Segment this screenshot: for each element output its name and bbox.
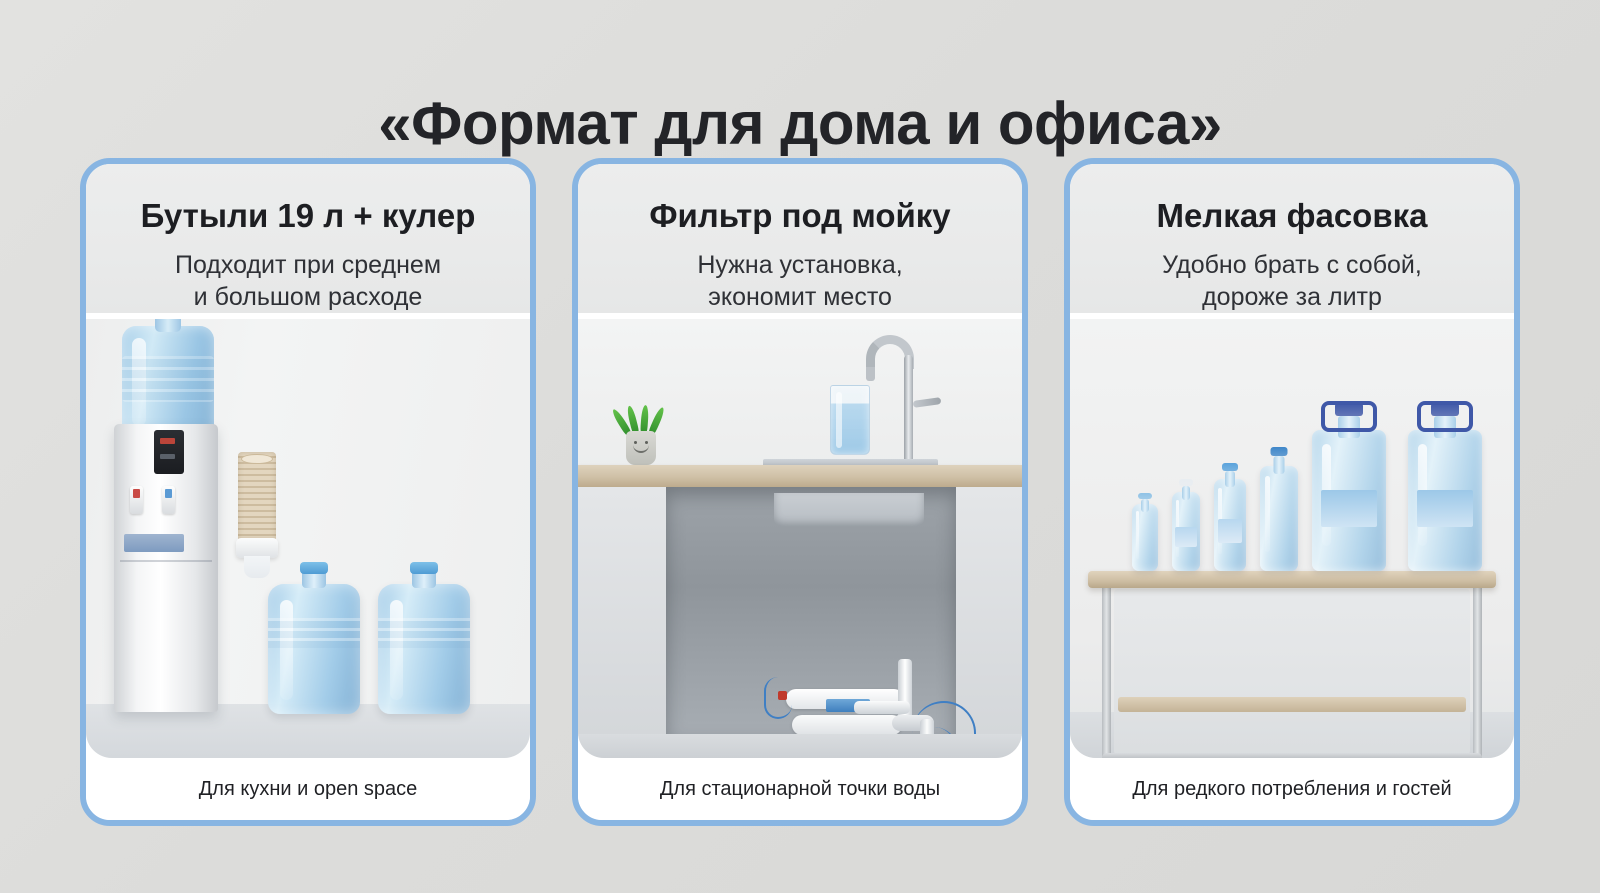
bottle-ribs <box>378 618 470 648</box>
card-2-subtitle-line-1: Нужна установка, <box>596 249 1004 281</box>
bottle-carry-handle <box>1321 401 1377 432</box>
bottle-neck <box>1141 499 1149 512</box>
bottle-0-75l-icon <box>1214 463 1246 571</box>
cold-tap-lever <box>165 489 172 498</box>
countertop <box>578 465 1022 487</box>
blue-water-tube <box>764 677 792 719</box>
shelf-back-panel <box>1114 589 1470 755</box>
shelf-frame-left <box>1102 581 1111 758</box>
card-1-footer: Для кухни и open space <box>86 758 530 820</box>
floor-bottle-2-icon <box>378 562 470 714</box>
bottle-body <box>1260 466 1298 571</box>
card-3-illustration <box>1070 319 1514 758</box>
bottle-cap <box>1271 447 1288 456</box>
sink-basin-underside <box>774 493 924 527</box>
shelf-frame-right <box>1473 581 1482 758</box>
cold-indicator-led <box>160 454 175 459</box>
water-cooler-icon <box>114 424 218 712</box>
shelf-top-board <box>1088 571 1496 588</box>
cabinet-open-interior <box>666 487 956 736</box>
kitchen-floor <box>578 734 1022 758</box>
hot-tap-lever <box>133 489 140 498</box>
bottle-neck <box>1225 471 1235 487</box>
faucet-stem <box>904 355 913 467</box>
infographic-stage: «Формат для дома и офиса» Бутыли 19 л + … <box>0 0 1600 893</box>
bottle-neck <box>1274 456 1285 474</box>
cup-holder-cup <box>244 556 270 578</box>
cooler-seam <box>120 560 212 562</box>
hot-indicator-led <box>160 438 175 444</box>
card-1-subtitle-line-1: Подходит при среднем <box>104 249 512 281</box>
card-3-header: Мелкая фасовка Удобно брать с собой, дор… <box>1070 164 1514 313</box>
card-2-subtitle: Нужна установка, экономит место <box>596 249 1004 313</box>
floor-bottle-1-icon <box>268 562 360 714</box>
bottle-cap <box>1179 479 1193 486</box>
card-under-sink-filter[interactable]: Фильтр под мойку Нужна установка, эконом… <box>572 158 1028 826</box>
pot-eye-right <box>645 441 648 444</box>
cold-water-tap <box>162 486 175 514</box>
bottle-body <box>122 326 214 438</box>
shelf-lower-board <box>1118 697 1466 712</box>
card-1-header: Бутыли 19 л + кулер Подходит при среднем… <box>86 164 530 313</box>
paper-cups-stack <box>238 452 276 540</box>
card-3-title: Мелкая фасовка <box>1088 198 1496 235</box>
glass-of-water-icon <box>830 385 870 455</box>
faucet-spout <box>866 367 875 381</box>
bottle-neck <box>155 319 181 332</box>
cabinet-left-door <box>578 487 667 736</box>
cooler-top-bottle-icon <box>122 319 214 438</box>
card-3-subtitle-line-2: дороже за литр <box>1088 281 1496 313</box>
cooler-scene <box>86 319 530 758</box>
bottle-label <box>1175 527 1196 547</box>
bottle-label <box>1321 490 1377 527</box>
cooler-control-panel <box>154 430 184 474</box>
bottle-body <box>268 584 360 714</box>
card-2-subtitle-line-2: экономит место <box>596 281 1004 313</box>
cup-holder-ring <box>236 538 278 558</box>
card-2-header: Фильтр под мойку Нужна установка, эконом… <box>578 164 1022 313</box>
card-2-footer: Для стационарной точки воды <box>578 758 1022 820</box>
bottle-0-5l-icon <box>1172 479 1200 571</box>
bottle-0-33l-icon <box>1132 493 1158 571</box>
cup-dispenser-icon <box>236 452 278 578</box>
ro-secondary-housing <box>792 715 902 735</box>
kitchen-scene <box>578 319 1022 758</box>
drip-tray <box>124 534 184 552</box>
bottle-carry-handle <box>1417 401 1473 432</box>
card-3-subtitle-line-1: Удобно брать с собой, <box>1088 249 1496 281</box>
bottle-ribs <box>268 618 360 648</box>
plant-pot-with-face-icon <box>626 431 656 465</box>
bottle-body <box>1132 504 1158 571</box>
bottle-cap <box>1138 493 1152 499</box>
bottle-label <box>1417 490 1473 527</box>
cards-row: Бутыли 19 л + кулер Подходит при среднем… <box>80 158 1520 828</box>
card-1-illustration <box>86 319 530 758</box>
card-bottles-cooler[interactable]: Бутыли 19 л + кулер Подходит при среднем… <box>80 158 536 826</box>
card-small-packaging[interactable]: Мелкая фасовка Удобно брать с собой, дор… <box>1064 158 1520 826</box>
bottle-ribs <box>122 356 214 402</box>
shelf-frame-bottom <box>1102 753 1482 758</box>
succulent-leaves-icon <box>624 401 658 435</box>
bottle-neck <box>1182 486 1190 500</box>
bottle-5l-a-icon <box>1312 403 1386 571</box>
drain-cross-pipe <box>854 701 910 714</box>
bottle-5l-b-icon <box>1408 403 1482 571</box>
bottle-label <box>1218 519 1242 543</box>
page-title: «Формат для дома и офиса» <box>0 92 1600 155</box>
bottle-cap <box>410 562 438 574</box>
card-3-footer: Для редкого потребления и гостей <box>1070 758 1514 820</box>
cabinet-right-door <box>955 487 1022 736</box>
card-2-illustration <box>578 319 1022 758</box>
bottle-body <box>378 584 470 714</box>
card-3-subtitle: Удобно брать с собой, дороже за литр <box>1088 249 1496 313</box>
bottle-cap <box>1222 463 1238 471</box>
bottle-cap <box>300 562 328 574</box>
card-2-title: Фильтр под мойку <box>596 198 1004 235</box>
bottle-1-5l-icon <box>1260 447 1298 571</box>
card-1-subtitle-line-2: и большом расходе <box>104 281 512 313</box>
card-1-title: Бутыли 19 л + кулер <box>104 198 512 235</box>
hot-water-tap <box>130 486 143 514</box>
shelf-scene <box>1070 319 1514 758</box>
card-1-subtitle: Подходит при среднем и большом расходе <box>104 249 512 313</box>
pot-eye-left <box>634 441 637 444</box>
